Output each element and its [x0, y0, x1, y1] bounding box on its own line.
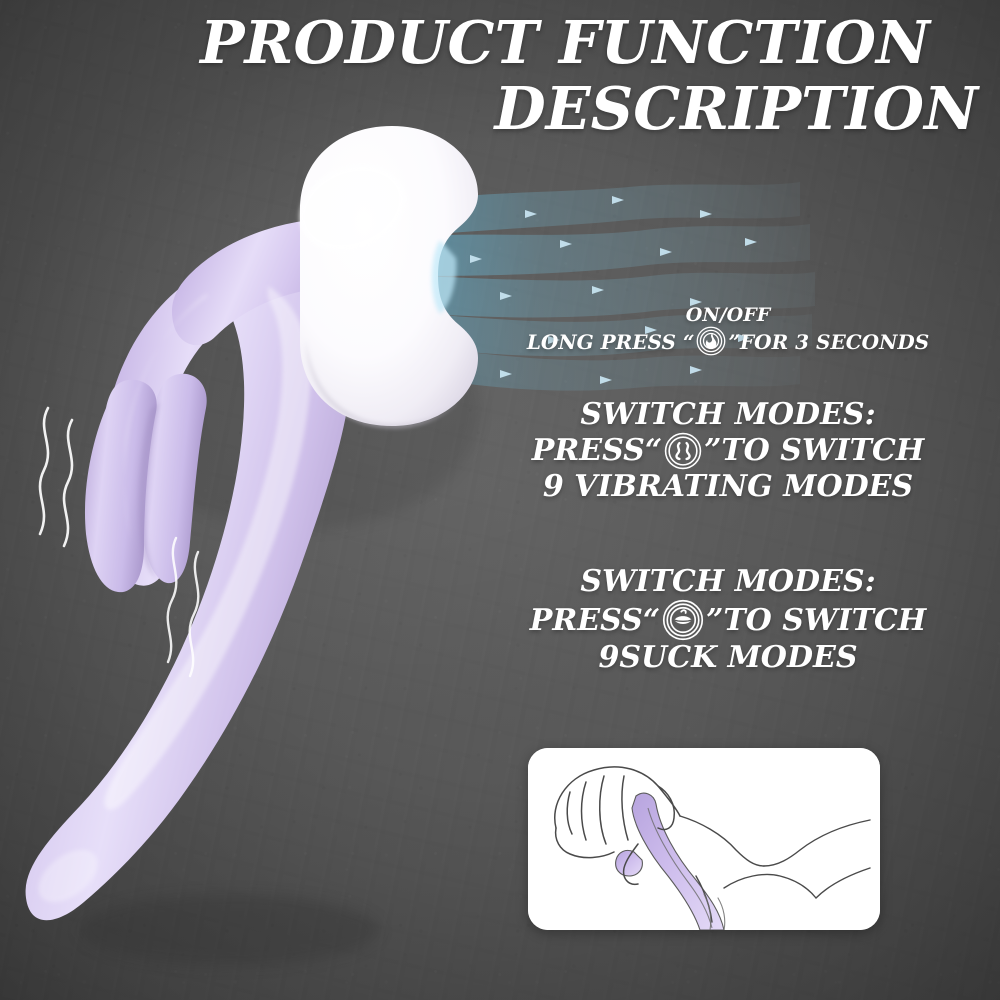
vibration-waves-icon — [664, 432, 702, 470]
instruction-block-power: ON/OFF LONG PRESS “ ”FOR 3 SECONDS — [488, 305, 968, 356]
suction-detail: PRESS“ ”TO SWITCH — [488, 599, 968, 641]
vibration-modes: 9 VIBRATING MODES — [488, 470, 968, 504]
vibration-detail: PRESS“ ”TO SWITCH — [488, 432, 968, 470]
suction-detail-before: PRESS“ — [530, 603, 660, 638]
power-detail-after: ”FOR 3 SECONDS — [728, 330, 929, 354]
instruction-block-vibration: SWITCH MODES: PRESS“ ”TO SWITCH 9 VIBRAT… — [488, 398, 968, 503]
vibration-detail-after: ”TO SWITCH — [704, 433, 924, 468]
power-detail-before: LONG PRESS “ — [527, 330, 695, 354]
suction-lips-icon — [662, 599, 704, 641]
instructions: ON/OFF LONG PRESS “ ”FOR 3 SECONDS SWITC… — [488, 305, 968, 701]
headline-line-2: DESCRIPTION — [0, 80, 978, 138]
suction-title: SWITCH MODES: — [488, 565, 968, 599]
vibration-title: SWITCH MODES: — [488, 398, 968, 432]
vibration-detail-before: PRESS“ — [532, 433, 662, 468]
headline: PRODUCT FUNCTION DESCRIPTION — [0, 14, 978, 138]
suction-modes: 9SUCK MODES — [488, 641, 968, 675]
suction-detail-after: ”TO SWITCH — [706, 603, 926, 638]
power-title: ON/OFF — [488, 305, 968, 326]
power-detail: LONG PRESS “ ”FOR 3 SECONDS — [488, 326, 968, 356]
power-flame-icon — [696, 326, 726, 356]
product-infographic: PRODUCT FUNCTION DESCRIPTION — [0, 0, 1000, 1000]
headline-line-1: PRODUCT FUNCTION — [0, 14, 978, 72]
usage-illustration-panel — [528, 748, 880, 930]
instruction-block-suction: SWITCH MODES: PRESS“ ”TO SWITCH 9SUCK MO… — [488, 565, 968, 674]
